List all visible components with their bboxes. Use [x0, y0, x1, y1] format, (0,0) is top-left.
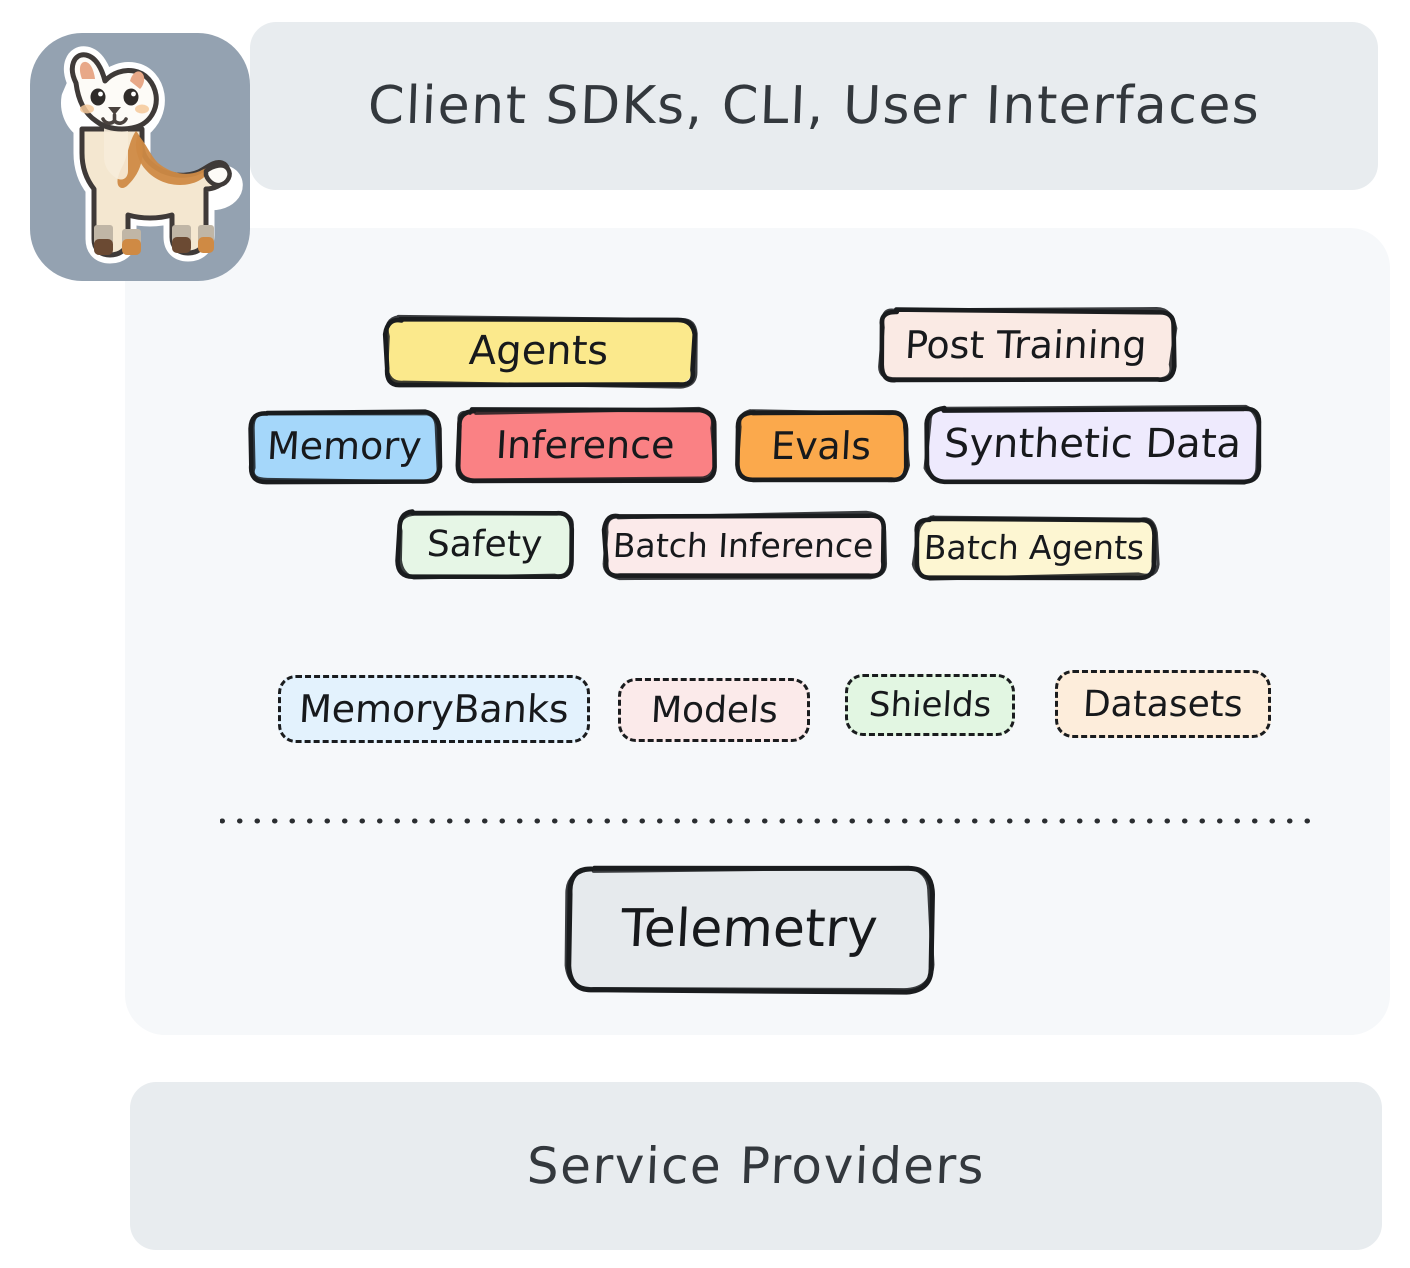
telemetry-box[interactable]: Telemetry — [568, 868, 930, 990]
api-box-batch-agents[interactable]: Batch Agents — [915, 518, 1154, 576]
api-box-label: Inference — [495, 423, 676, 467]
resource-box-datasets[interactable]: Datasets — [1055, 670, 1271, 738]
header-title: Client SDKs, CLI, User Interfaces — [367, 76, 1262, 136]
api-box-synthetic-data[interactable]: Synthetic Data — [927, 408, 1258, 480]
api-box-label: Memory — [266, 424, 423, 468]
client-layer-header: Client SDKs, CLI, User Interfaces — [250, 22, 1378, 190]
telemetry-label: Telemetry — [619, 899, 879, 959]
resource-box-models[interactable]: Models — [618, 678, 810, 742]
footer-title: Service Providers — [526, 1137, 986, 1195]
api-box-label: Safety — [426, 524, 543, 565]
api-box-memory[interactable]: Memory — [250, 412, 438, 480]
api-box-agents[interactable]: Agents — [385, 318, 693, 384]
api-box-safety[interactable]: Safety — [398, 512, 571, 576]
dotted-divider — [220, 818, 1320, 824]
api-box-label: Post Training — [904, 323, 1148, 367]
api-box-label: Synthetic Data — [943, 421, 1242, 467]
resource-box-label: Shields — [868, 685, 992, 725]
api-box-post-training[interactable]: Post Training — [880, 310, 1172, 380]
api-box-label: Batch Agents — [923, 528, 1145, 567]
service-providers-footer: Service Providers — [130, 1082, 1382, 1250]
resource-box-label: Models — [650, 690, 779, 731]
resource-box-label: Datasets — [1082, 684, 1244, 725]
llama-logo-icon — [38, 39, 244, 277]
resource-box-memorybanks[interactable]: MemoryBanks — [278, 675, 590, 743]
api-box-label: Batch Inference — [612, 526, 874, 565]
api-box-inference[interactable]: Inference — [457, 410, 713, 480]
api-box-evals[interactable]: Evals — [737, 412, 905, 480]
resource-box-label: MemoryBanks — [298, 687, 570, 731]
api-box-label: Evals — [770, 424, 872, 468]
resource-box-shields[interactable]: Shields — [845, 674, 1015, 736]
api-box-batch-inference[interactable]: Batch Inference — [604, 514, 883, 576]
diagram-canvas: Client SDKs, CLI, User Interfaces Agents… — [0, 0, 1410, 1268]
llama-logo-tile — [30, 33, 250, 281]
api-box-label: Agents — [468, 328, 610, 374]
